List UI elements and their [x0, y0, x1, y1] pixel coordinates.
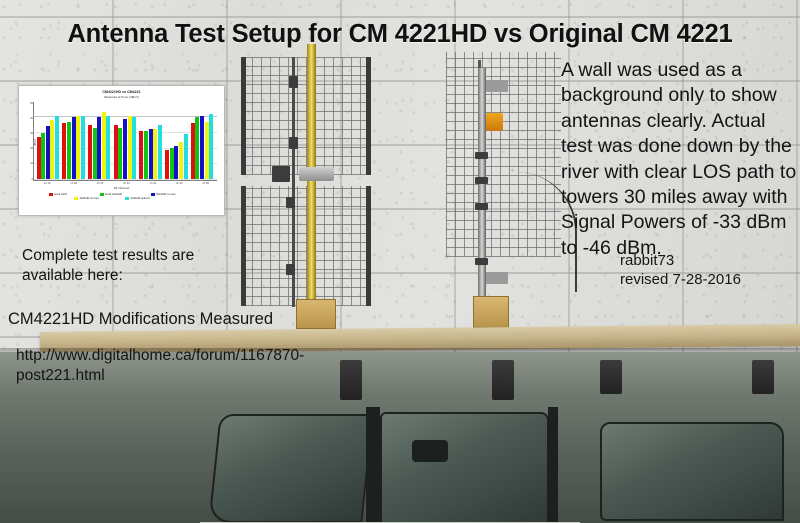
chart-legend-label: 4221HD w/ reps	[80, 197, 99, 200]
chart-legend-item: stock 4221HD	[100, 193, 144, 196]
chart-xtick: ch 33	[123, 182, 130, 185]
chart-bar	[158, 125, 162, 179]
chart-bar	[139, 131, 143, 179]
chart-bar	[118, 128, 122, 179]
chart-bar	[209, 114, 213, 179]
element-clamp-3	[475, 203, 488, 210]
antenna-base-right	[473, 296, 509, 328]
side-mirror	[412, 440, 448, 462]
mast-clamp-3	[286, 197, 295, 208]
chart-legend-swatch	[125, 197, 129, 200]
chart-legend-label: stock 4221HD	[105, 193, 122, 196]
roof-rack-foot-2	[492, 360, 514, 400]
chart-bar	[41, 133, 45, 179]
chart-legend-item: 4221HD spliced	[125, 197, 169, 200]
chart-x-ticks: ch 10ch 28ch 31ch 33ch 40ch 42ch 50	[34, 182, 219, 185]
chart-legend-label: 4221HD spliced	[131, 197, 150, 200]
chart-legend-label: stock 4221	[54, 193, 67, 196]
reflector-edge-rod-2	[366, 57, 371, 175]
author-name: rabbit73	[620, 252, 741, 271]
car-quarter-window	[600, 422, 784, 521]
top-bracket-right	[486, 80, 508, 92]
element-clamp-1	[475, 152, 488, 159]
chart-bar	[191, 123, 195, 179]
antenna-base-left	[296, 299, 336, 329]
chart-xtick: ch 31	[97, 182, 104, 185]
chart-bar	[76, 116, 80, 179]
chart-legend-swatch	[49, 193, 53, 196]
roof-rack-foot-3	[600, 360, 622, 394]
chart-bar	[153, 129, 157, 178]
chart-inset[interactable]: CM4221HD vs CM4221 Measured at Tuner (dB…	[18, 85, 225, 216]
chart-bar	[81, 116, 85, 179]
link-title: CM4221HD Modifications Measured	[8, 310, 273, 329]
chart-legend-swatch	[151, 193, 155, 196]
chart-bar-group	[62, 102, 84, 179]
reflector-screen-upper-left	[243, 57, 368, 175]
chart-bar	[102, 112, 106, 178]
chart-bar	[93, 128, 97, 179]
chart-plot-area: dBmV 50403020100	[33, 102, 219, 181]
chart-subtitle: Measured at Tuner (dBmV)	[19, 95, 224, 99]
chart-xtick: ch 28	[70, 182, 77, 185]
chart-xtick: ch 10	[44, 182, 51, 185]
chart-bar	[200, 116, 204, 179]
reflector-screen-lower-left	[243, 186, 368, 306]
chart-legend-label: 4221HD no reps	[156, 193, 176, 196]
chart-bar	[128, 116, 132, 179]
mast-clamp-1	[289, 76, 298, 88]
chart-bar	[195, 117, 199, 179]
chart-bar	[88, 125, 92, 179]
chart-bar	[67, 122, 71, 179]
car-b-pillar	[366, 407, 380, 523]
chart-legend-item: 4221HD w/ reps	[74, 197, 118, 200]
chart-bar	[132, 117, 136, 179]
chart-xlabel: RF Channel	[19, 186, 224, 190]
results-lead-text: Complete test results are available here…	[22, 246, 252, 286]
chart-bar	[114, 125, 118, 179]
page-title: Antenna Test Setup for CM 4221HD vs Orig…	[0, 20, 800, 49]
chart-bar	[50, 120, 54, 179]
chart-bar	[149, 129, 153, 178]
car-front-window	[208, 414, 373, 523]
reflector-edge-rod-4	[366, 186, 371, 306]
chart-legend-swatch	[100, 193, 104, 196]
mast-clamp-4	[286, 264, 295, 275]
chart-bar	[46, 126, 50, 179]
results-url[interactable]: http://www.digitalhome.ca/forum/1167870-…	[16, 346, 316, 386]
chart-legend: stock 4221stock 4221HD4221HD no reps4221…	[19, 193, 224, 201]
chart-legend-swatch	[74, 197, 78, 200]
roof-rack-foot-4	[752, 360, 774, 394]
chart-bar	[174, 146, 178, 178]
mast-clamp-2	[289, 137, 298, 149]
chart-bar	[55, 116, 59, 179]
screenshot-root: Antenna Test Setup for CM 4221HD vs Orig…	[0, 0, 800, 523]
chart-bar	[179, 142, 183, 179]
element-clamp-4	[475, 258, 488, 265]
roof-rack-foot-1	[340, 360, 362, 400]
chart-legend-item: stock 4221	[49, 193, 93, 196]
chart-bar-group	[114, 102, 136, 179]
revision-date: revised 7-28-2016	[620, 271, 741, 290]
feed-block-left	[272, 166, 290, 182]
element-clamp-2	[475, 177, 488, 184]
chart-bar	[165, 150, 169, 179]
chart-bar	[72, 117, 76, 179]
chart-bar	[106, 116, 110, 179]
balun-right	[486, 113, 503, 131]
chart-plot	[33, 102, 217, 181]
chart-legend-item: 4221HD no reps	[151, 193, 195, 196]
description-paragraph: A wall was used as a background only to …	[561, 58, 800, 261]
chart-bar-group	[88, 102, 110, 179]
chart-xtick: ch 50	[202, 182, 209, 185]
signature-block: rabbit73 revised 7-28-2016	[620, 252, 741, 289]
chart-bar	[205, 122, 209, 179]
balun-left	[299, 167, 334, 181]
mast-gray	[478, 68, 486, 308]
chart-bar	[97, 117, 101, 179]
chart-bar	[184, 134, 188, 179]
chart-bar-group	[139, 102, 161, 179]
chart-bar-group	[165, 102, 187, 179]
reflector-edge-rod-1	[241, 57, 246, 175]
chart-bar-group	[191, 102, 213, 179]
chart-bar	[37, 137, 41, 179]
car-c-pillar	[548, 407, 558, 523]
chart-bar	[62, 123, 66, 179]
car-rear-window	[380, 412, 549, 523]
chart-bar	[170, 148, 174, 179]
chart-bar	[144, 131, 148, 179]
chart-xtick: ch 42	[176, 182, 183, 185]
chart-bar-group	[37, 102, 59, 179]
chart-bars	[35, 102, 215, 179]
chart-bar	[123, 119, 127, 179]
chart-xtick: ch 40	[150, 182, 157, 185]
